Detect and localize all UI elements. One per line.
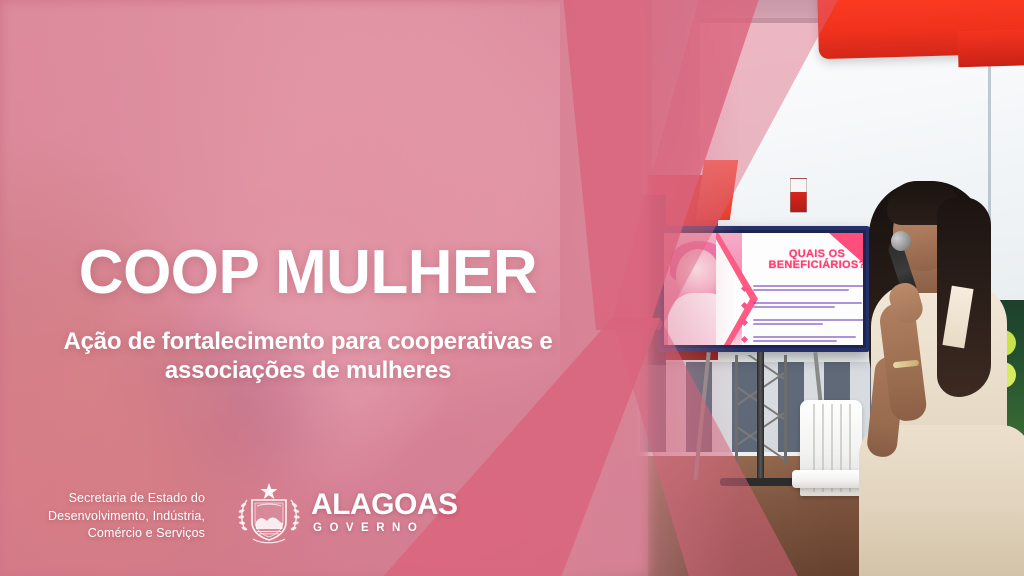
page-title: COOP MULHER (0, 238, 616, 308)
screen-title-line2: BENEFICIÁRIOS? (764, 260, 863, 271)
secretaria-line-3: Comércio e Serviços (0, 525, 205, 543)
secretaria-line-2: Desenvolvimento, Indústria, (0, 508, 205, 526)
screen-bullet-item (740, 302, 863, 312)
page-subtitle-line2: associações de mulheres (0, 356, 616, 385)
screen-bullet-item (740, 319, 863, 329)
fire-alarm-box (790, 178, 807, 213)
page-subtitle: Ação de fortalecimento para cooperativas… (0, 327, 616, 385)
alagoas-wordmark: ALAGOAS (311, 490, 458, 520)
governo-wordmark: GOVERNO (313, 522, 424, 534)
secretaria-line-1: Secretaria de Estado do (0, 490, 205, 508)
screen-bullet-list (740, 285, 863, 345)
red-awning-side (958, 29, 1024, 67)
screen-bullet-item (740, 285, 863, 295)
screen-bullet-item (740, 336, 863, 345)
speaker-person (855, 175, 1024, 576)
presentation-slide: QUAIS OS BENEFICIÁRIOS? (0, 0, 1024, 576)
tv-stand-pole (757, 352, 764, 482)
page-subtitle-line1: Ação de fortalecimento para cooperativas… (0, 327, 616, 356)
footer: Secretaria de Estado do Desenvolvimento,… (0, 488, 616, 554)
screen-title: QUAIS OS BENEFICIÁRIOS? (764, 249, 863, 271)
alagoas-government-logo: ALAGOAS GOVERNO (233, 482, 433, 546)
secretaria-label: Secretaria de Estado do Desenvolvimento,… (0, 490, 205, 543)
alagoas-coat-of-arms-icon (233, 482, 305, 544)
